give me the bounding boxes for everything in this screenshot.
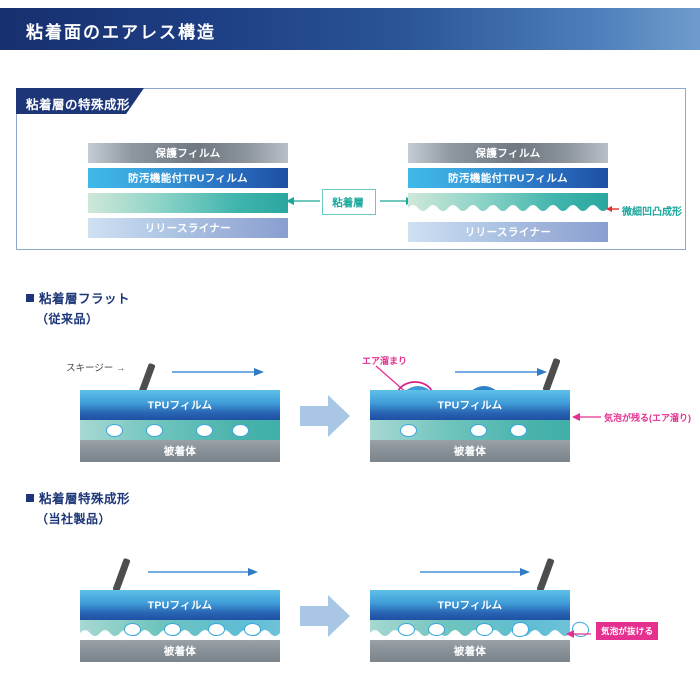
process-arrow-icon xyxy=(300,393,350,439)
direction-arrow-icon xyxy=(455,366,547,378)
air-bubble xyxy=(400,424,417,437)
air-bubble xyxy=(208,623,225,636)
cs-adherend-layer: 被着体 xyxy=(80,640,280,662)
layer-stack-textured: 保護フィルム 防汚機能付TPUフィルム リリースライナー xyxy=(408,143,608,247)
cs-adhesive-layer xyxy=(370,420,570,440)
diagram-flat-before: TPUフィルム 被着体 xyxy=(80,390,280,462)
air-bubble xyxy=(124,623,141,636)
adhesive-layer-box-label: 粘着層 xyxy=(322,195,374,210)
squeegee-blade-icon xyxy=(536,558,554,592)
cs-tpu-label: TPUフィルム xyxy=(370,598,570,613)
arrow-to-left-stack xyxy=(286,193,322,209)
layer-label: 保護フィルム xyxy=(408,146,608,161)
squeegee-blade-icon xyxy=(112,558,130,592)
layer-stack-flat: 保護フィルム 防汚機能付TPUフィルム リリースライナー xyxy=(88,143,288,243)
layer-release-liner: リリースライナー xyxy=(408,222,608,242)
bubble-escape-label: 気泡が抜ける xyxy=(596,622,658,640)
squeegee-label: スキージー → xyxy=(66,360,125,374)
layer-label: 防汚機能付TPUフィルム xyxy=(88,171,288,186)
section-flat-heading: 粘着層フラット xyxy=(26,288,130,307)
air-bubble xyxy=(510,424,527,437)
layer-release-liner: リリースライナー xyxy=(88,218,288,238)
air-bubble xyxy=(244,623,261,636)
cs-tpu-layer: TPUフィルム xyxy=(80,590,280,620)
air-bubble xyxy=(476,623,493,636)
layer-label: 保護フィルム xyxy=(88,146,288,161)
layer-protect-film: 保護フィルム xyxy=(88,143,288,163)
diagram-flat-after: TPUフィルム 被着体 xyxy=(370,390,570,462)
cs-tpu-layer: TPUフィルム xyxy=(370,390,570,420)
layer-label: リリースライナー xyxy=(88,221,288,236)
direction-arrow-icon xyxy=(420,566,530,578)
layer-protect-film: 保護フィルム xyxy=(408,143,608,163)
diagram-special-before: TPUフィルム 被着体 xyxy=(80,590,280,662)
cs-tpu-label: TPUフィルム xyxy=(80,398,280,413)
cs-adhesive-layer-textured xyxy=(80,620,280,640)
bubble-remains-label: 気泡が残る(エア溜り) xyxy=(604,411,691,424)
texture-annotation-label: 微細凹凸成形 xyxy=(622,203,682,218)
air-bubble xyxy=(146,424,163,437)
air-bubble xyxy=(196,424,213,437)
section-special-subheading: （当社製品） xyxy=(36,510,111,527)
process-arrow-icon xyxy=(300,593,350,639)
direction-arrow-icon xyxy=(172,366,264,378)
layer-tpu-film: 防汚機能付TPUフィルム xyxy=(408,168,608,188)
layer-label: リリースライナー xyxy=(408,225,608,240)
bubble-remains-pointer xyxy=(572,411,602,423)
cs-base-label: 被着体 xyxy=(370,444,570,459)
cs-tpu-label: TPUフィルム xyxy=(370,398,570,413)
section-special-heading-text: 粘着層特殊成形 xyxy=(39,492,130,506)
bubble-escape-pointer xyxy=(566,628,592,640)
cs-adherend-layer: 被着体 xyxy=(370,640,570,662)
page-title: 粘着面のエアレス構造 xyxy=(26,18,216,43)
air-bubble xyxy=(428,623,445,636)
section-special-heading: 粘着層特殊成形 xyxy=(26,488,130,507)
air-bubble xyxy=(164,623,181,636)
bullet-icon xyxy=(26,494,34,502)
section-flat-subheading: （従来品） xyxy=(36,310,99,327)
section-flat-heading-text: 粘着層フラット xyxy=(39,292,130,306)
air-bubble xyxy=(470,424,487,437)
cs-adherend-layer: 被着体 xyxy=(80,440,280,462)
air-bubble xyxy=(106,424,123,437)
panel-tab-label: 粘着層の特殊成形 xyxy=(26,94,130,113)
cs-tpu-label: TPUフィルム xyxy=(80,598,280,613)
cs-base-label: 被着体 xyxy=(80,644,280,659)
layer-adhesive-flat xyxy=(88,193,288,213)
air-bubble xyxy=(398,623,415,636)
cs-adherend-layer: 被着体 xyxy=(370,440,570,462)
cs-adhesive-layer xyxy=(80,420,280,440)
cs-base-label: 被着体 xyxy=(370,644,570,659)
direction-arrow-icon xyxy=(148,566,258,578)
diagram-special-after: TPUフィルム 被着体 xyxy=(370,590,570,662)
layer-adhesive-textured xyxy=(408,193,608,217)
cs-adhesive-layer-textured xyxy=(370,620,570,640)
red-arrow-icon xyxy=(606,203,620,215)
cs-tpu-layer: TPUフィルム xyxy=(80,390,280,420)
layer-label: 防汚機能付TPUフィルム xyxy=(408,171,608,186)
cs-tpu-layer: TPUフィルム xyxy=(370,590,570,620)
bullet-icon xyxy=(26,294,34,302)
cs-base-label: 被着体 xyxy=(80,444,280,459)
layer-tpu-film: 防汚機能付TPUフィルム xyxy=(88,168,288,188)
air-bubble xyxy=(232,424,249,437)
